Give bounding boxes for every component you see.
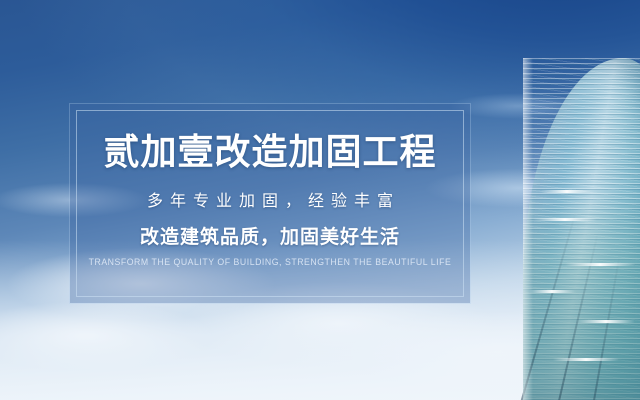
- banner-stage: 贰加壹改造加固工程 多年专业加固，经验丰富 改造建筑品质，加固美好生活 TRAN…: [0, 0, 640, 400]
- banner-title: 贰加壹改造加固工程: [103, 134, 436, 170]
- skyscraper-image: [505, 58, 640, 400]
- tower-edge-highlight: [523, 58, 533, 400]
- hero-text-panel: 贰加壹改造加固工程 多年专业加固，经验丰富 改造建筑品质，加固美好生活 TRAN…: [70, 104, 470, 303]
- tower-body: [523, 58, 640, 400]
- window-highlight: [541, 190, 593, 193]
- panel-content: 贰加壹改造加固工程 多年专业加固，经验丰富 改造建筑品质，加固美好生活 TRAN…: [70, 104, 470, 303]
- window-highlight: [577, 320, 635, 323]
- banner-subtitle: 多年专业加固，经验丰富: [140, 194, 400, 210]
- banner-tagline: 改造建筑品质，加固美好生活: [140, 228, 400, 247]
- window-highlight: [565, 263, 635, 266]
- window-highlight: [533, 218, 597, 221]
- window-highlight: [529, 290, 575, 293]
- window-highlight: [553, 358, 619, 361]
- banner-tagline-english: TRANSFORM THE QUALITY OF BUILDING, STREN…: [89, 258, 452, 267]
